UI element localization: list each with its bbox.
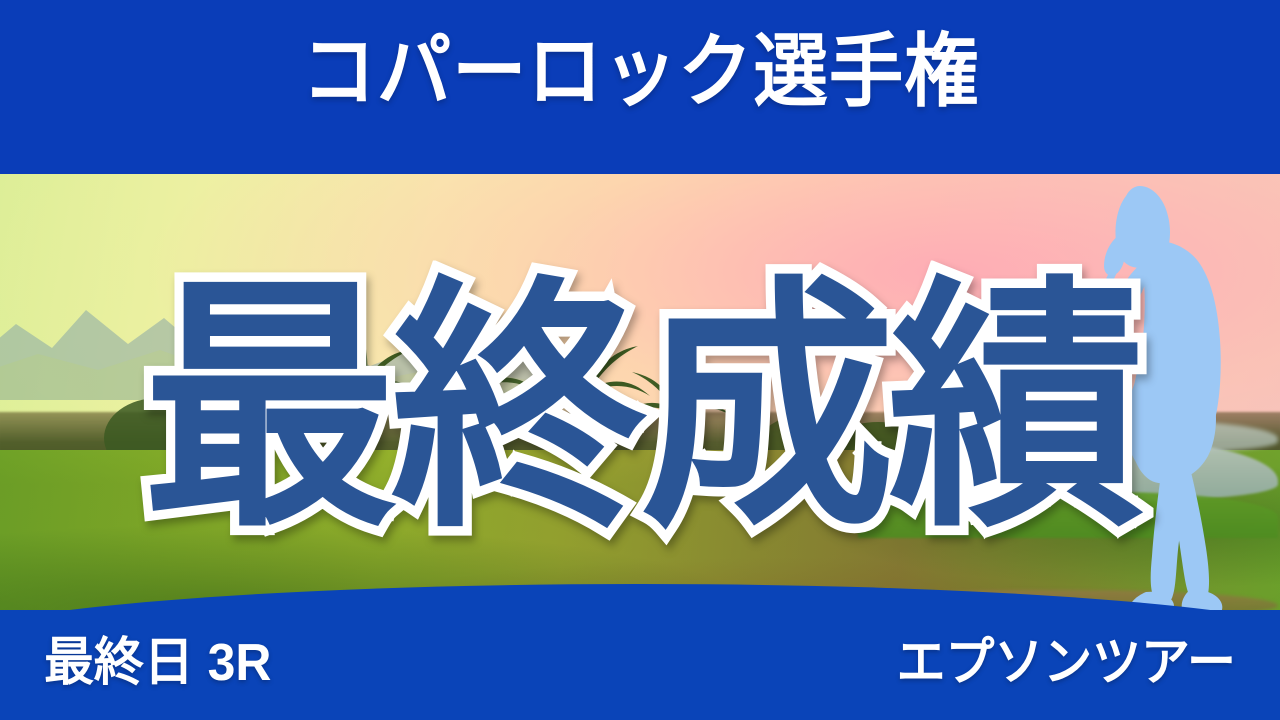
thumbnail-stage: 最終成績 コパーロック選手権 最終日 3R エプソンツアー xyxy=(0,0,1280,720)
tournament-title: コパーロック選手権 xyxy=(301,32,979,112)
bottom-bar: 最終日 3R エプソンツアー xyxy=(0,610,1280,720)
round-label: 最終日 3R xyxy=(44,637,271,689)
bottom-bar-content: 最終日 3R エプソンツアー xyxy=(0,610,1280,720)
female-golfer-silhouette xyxy=(1070,150,1280,630)
tour-label: エプソンツアー xyxy=(897,637,1236,689)
top-banner: コパーロック選手権 xyxy=(0,0,1280,144)
